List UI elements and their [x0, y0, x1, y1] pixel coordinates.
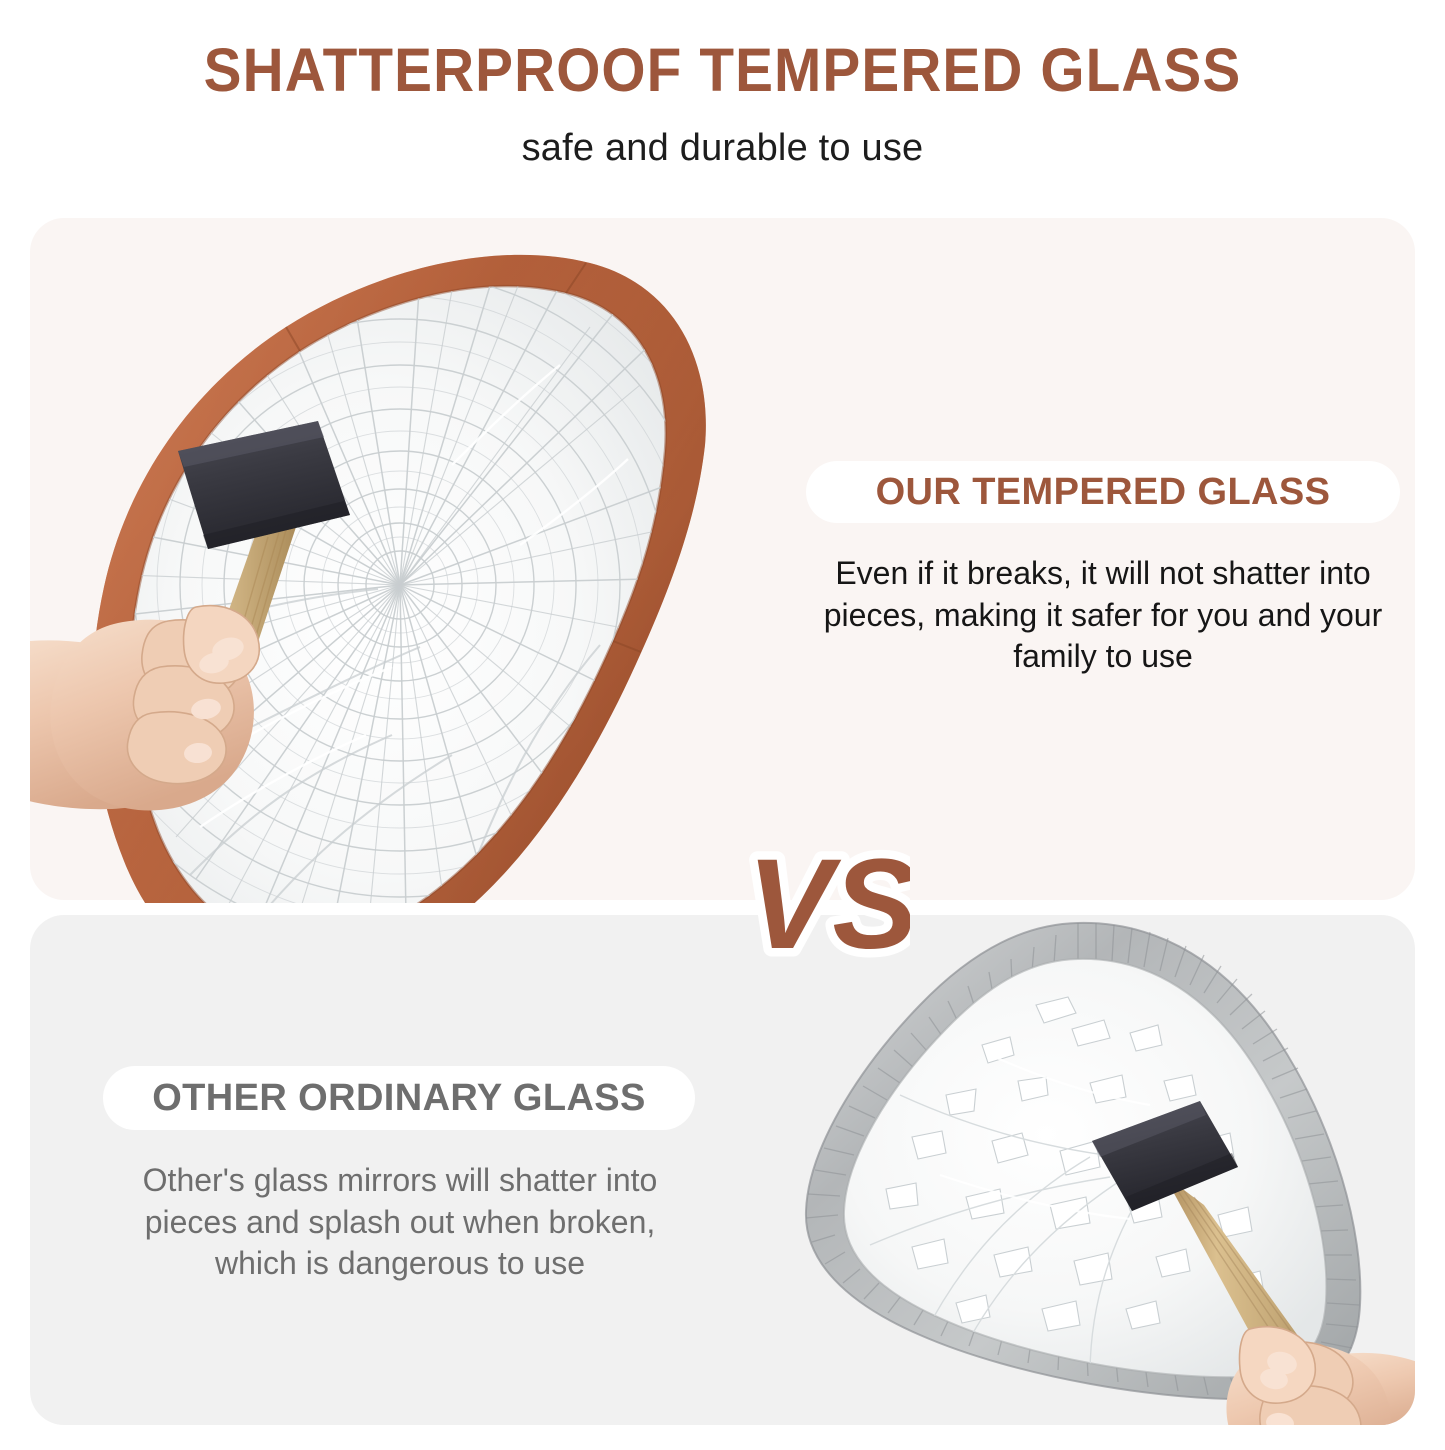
- tempered-glass-description: Even if it breaks, it will not shatter i…: [795, 553, 1411, 678]
- vs-label: VS: [747, 833, 910, 976]
- vs-divider: VS: [735, 832, 910, 977]
- ordinary-glass-badge: OTHER ORDINARY GLASS: [103, 1066, 695, 1130]
- infographic-canvas: SHATTERPROOF TEMPERED GLASS safe and dur…: [0, 0, 1445, 1445]
- page-subtitle: safe and durable to use: [0, 127, 1445, 170]
- ordinary-glass-description: Other's glass mirrors will shatter into …: [100, 1160, 700, 1285]
- page-title: SHATTERPROOF TEMPERED GLASS: [51, 38, 1395, 102]
- tempered-glass-badge: OUR TEMPERED GLASS: [806, 461, 1400, 523]
